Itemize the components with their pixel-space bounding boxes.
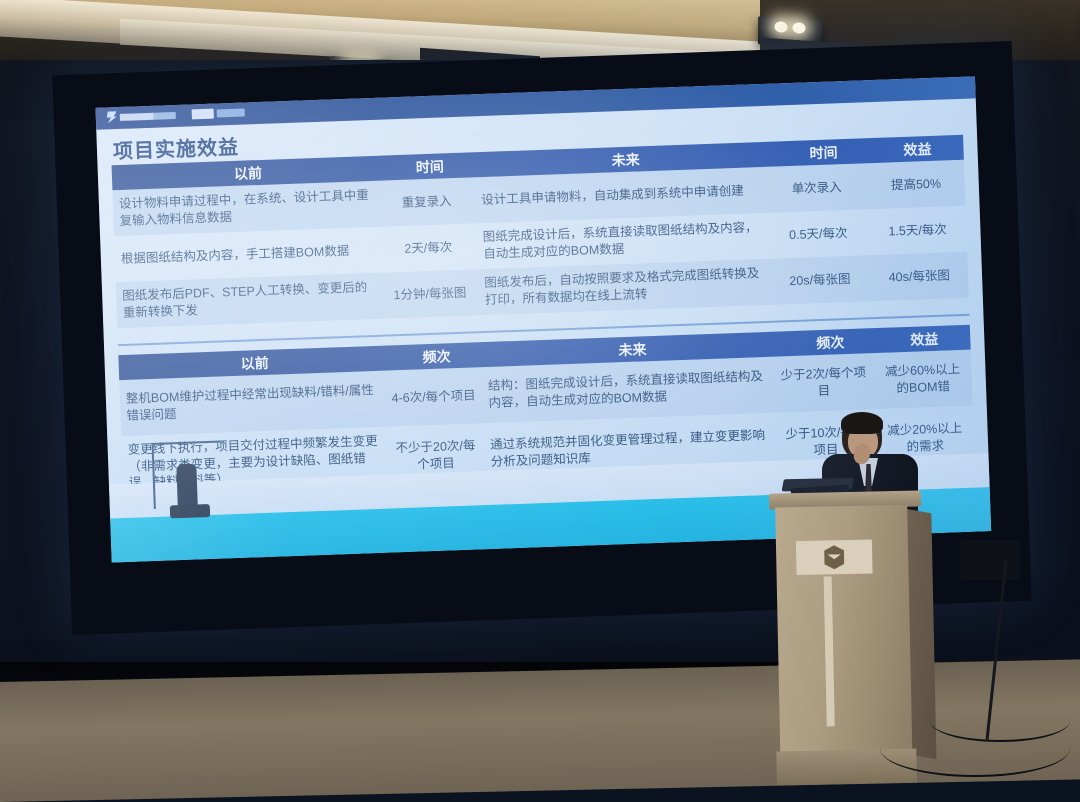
partner-logo-icon bbox=[192, 107, 245, 119]
spotlight-right-bulbs bbox=[775, 21, 806, 34]
table-2-col-benefit: 效益 bbox=[878, 327, 971, 350]
cell-future: 设计工具申请物料，自动集成到系统中申请创建 bbox=[475, 177, 767, 212]
slide-title: 项目实施效益 bbox=[112, 131, 239, 164]
conference-hall-photo: 智造无界云享不凡 项目实施效益 以前 时间 未来 时间 效益 设计物料申请过程中… bbox=[0, 0, 1080, 802]
table-2-col-freq-before: 频次 bbox=[390, 345, 483, 368]
table-1-col-time-before: 时间 bbox=[383, 155, 476, 178]
cell-before: 图纸发布后PDF、STEP人工转换、变更后的重新转换下发 bbox=[116, 275, 382, 326]
cell-time-before: 2天/每次 bbox=[379, 234, 477, 262]
logo-group bbox=[106, 106, 245, 123]
cell-time-future: 0.5天/每次 bbox=[767, 220, 869, 248]
benefits-table-1: 以前 时间 未来 时间 效益 设计物料申请过程中，在系统、设计工具中重复输入物料… bbox=[112, 135, 969, 328]
cell-benefit: 提高50% bbox=[867, 170, 965, 198]
cell-benefit: 1.5天/每次 bbox=[868, 216, 966, 244]
cell-future: 图纸完成设计后，系统直接读取图纸结构及内容，自动生成对应的BOM数据 bbox=[476, 215, 768, 267]
cell-benefit: 减少60%以上的BOM错 bbox=[873, 357, 972, 402]
machine-silhouette-graphic bbox=[166, 461, 214, 521]
cell-before: 设计物料申请过程中，在系统、设计工具中重复输入物料信息数据 bbox=[113, 183, 379, 234]
silhouette-body bbox=[176, 463, 198, 508]
cell-benefit: 40s/每张图 bbox=[870, 262, 968, 290]
silhouette-base bbox=[170, 504, 210, 518]
podium-emblem-plate bbox=[796, 539, 873, 575]
cell-time-future: 20s/每张图 bbox=[769, 266, 871, 294]
slide-top-bar bbox=[95, 76, 975, 129]
table-2-col-freq-future: 频次 bbox=[782, 330, 879, 353]
table-1-col-benefit: 效益 bbox=[871, 137, 964, 160]
partner-logo-en bbox=[217, 108, 245, 117]
cell-time-before: 重复录入 bbox=[377, 188, 475, 216]
cell-time-before: 1分钟/每张图 bbox=[381, 280, 479, 308]
cell-time-future: 单次录入 bbox=[766, 174, 868, 202]
floor-cable bbox=[880, 720, 1070, 777]
cell-future: 图纸发布后，自动按照要求及格式完成图纸转换及打印，所有数据均在线上流转 bbox=[478, 261, 770, 313]
cell-freq-before: 4-6次/每个项目 bbox=[384, 383, 482, 411]
cell-freq-future: 少于2次/每个项目 bbox=[772, 360, 875, 405]
cell-future: 结构：图纸完成设计后，系统直接读取图纸结构及内容，自动生成对应的BOM数据 bbox=[482, 364, 774, 416]
logo-wordmark bbox=[120, 111, 176, 120]
partner-logo-cn bbox=[192, 109, 214, 120]
cell-before: 根据图纸结构及内容，手工搭建BOM数据 bbox=[114, 237, 380, 271]
hexagon-shield-emblem-icon bbox=[824, 545, 844, 569]
bulb-icon bbox=[793, 22, 806, 34]
company-logo-icon bbox=[106, 109, 176, 123]
equipment-box bbox=[960, 540, 1020, 580]
table-1-col-time-future: 时间 bbox=[775, 141, 872, 164]
bulb-icon bbox=[775, 21, 788, 33]
glasses-icon bbox=[846, 431, 880, 440]
logo-glyph-icon bbox=[106, 111, 117, 123]
cell-before: 整机BOM维护过程中经常出现缺料/错料/属性错误问题 bbox=[119, 378, 385, 429]
